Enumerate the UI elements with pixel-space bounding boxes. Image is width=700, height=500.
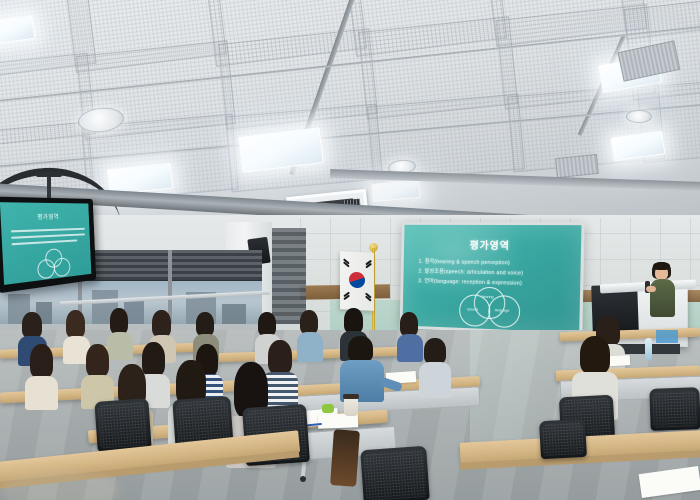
chair[interactable]	[539, 419, 587, 459]
taeguk-symbol	[349, 272, 365, 289]
venn-diagram: hearing speech language	[457, 286, 521, 326]
ceiling-light-panel	[371, 180, 420, 202]
bag	[330, 429, 360, 487]
chair[interactable]	[649, 387, 700, 431]
venn-label-top: hearing	[474, 295, 502, 300]
slide-list: 1. 청각(hearing & speech perception) 2. 발성…	[418, 257, 570, 290]
venn-circle-right	[53, 257, 70, 277]
blue-basket	[656, 330, 678, 343]
presenter-torso	[650, 279, 675, 317]
ceiling-vent	[555, 154, 599, 178]
ceiling-monitor[interactable]: 평가영역	[0, 197, 96, 294]
lecture-room-photo: 평가영역 평가영역 1. 청각(hearing & speech percept…	[0, 0, 700, 500]
wall-louver	[272, 228, 306, 324]
korean-flag	[340, 251, 374, 311]
window-blind[interactable]	[172, 250, 262, 281]
water-bottle	[645, 338, 652, 360]
venn-circle-left	[37, 259, 55, 280]
green-item	[322, 404, 334, 413]
presenter-hair-front	[653, 262, 670, 270]
projected-slide: 평가영역 1. 청각(hearing & speech perception) …	[402, 225, 581, 333]
slide-title: 평가영역	[404, 236, 581, 253]
coffee-cup	[344, 396, 358, 416]
ceiling-downlight	[626, 110, 652, 123]
chair[interactable]	[360, 446, 430, 500]
coffee-cup-lid	[343, 394, 359, 399]
monitor-screen: 평가영역	[0, 202, 91, 285]
chair[interactable]	[94, 398, 151, 452]
projection-screen: 평가영역 1. 청각(hearing & speech perception) …	[400, 222, 585, 336]
monitor-slide-title: 평가영역	[0, 212, 89, 222]
presenter-arm	[646, 286, 656, 292]
